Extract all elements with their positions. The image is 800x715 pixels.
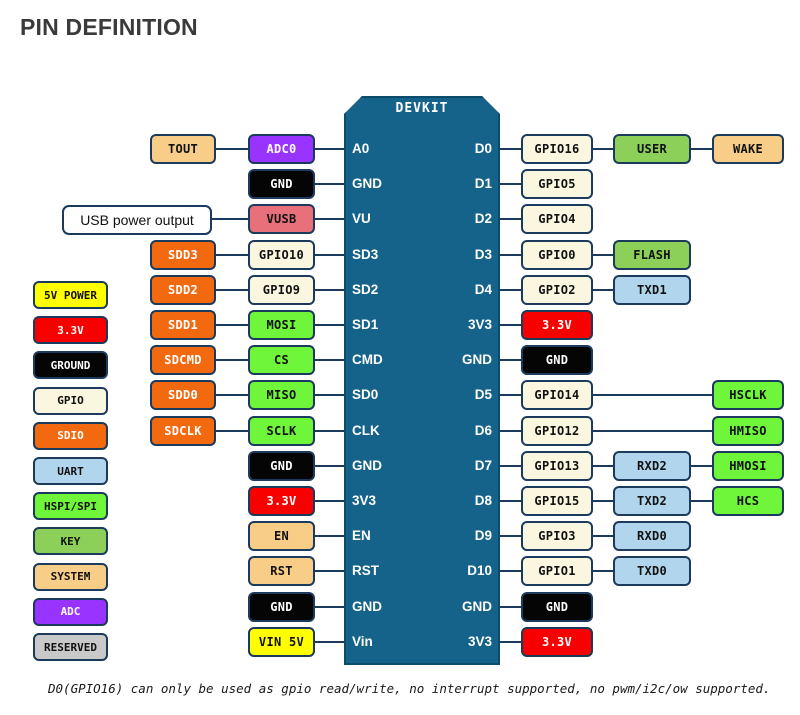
left-pin-box-6-col2[interactable]: CS [248,345,315,375]
left-pin-box-4-col1[interactable]: SDD2 [150,275,216,305]
board-pin-left-13: GND [352,592,414,622]
right-pin-box-0-col2[interactable]: USER [613,134,691,164]
pin-box-label: SDCMD [164,353,202,367]
pin-box-label: HCS [737,494,760,508]
wire-right-mid-3 [593,254,613,256]
pin-box-label: FLASH [633,248,671,262]
pin-box-label: 3.3V [542,635,572,649]
legend-item-label: GROUND [51,359,91,372]
right-pin-box-12-col1[interactable]: GPIO1 [521,556,593,586]
legend-item-uart[interactable]: UART [33,457,108,485]
left-pin-box-11-col2[interactable]: EN [248,521,315,551]
legend-item-system[interactable]: SYSTEM [33,563,108,591]
wire-right-long-8 [593,430,712,432]
board-pin-left-11: EN [352,521,414,551]
right-pin-box-7-col1[interactable]: GPIO14 [521,380,593,410]
right-pin-box-10-col1[interactable]: GPIO15 [521,486,593,516]
right-pin-box-14-col1[interactable]: 3.3V [521,627,593,657]
right-pin-box-10-col2[interactable]: TXD2 [613,486,691,516]
wire-left-outer-6 [216,359,248,361]
left-pin-box-5-col2[interactable]: MOSI [248,310,315,340]
board-pin-right-13: GND [428,592,492,622]
pin-box-label: ADC0 [266,142,296,156]
pin-box-label: GND [270,459,293,473]
wire-right-inner-0 [500,148,521,150]
wire-left-outer-4 [216,289,248,291]
legend-item-label: 5V POWER [44,289,97,302]
pin-box-label: GPIO1 [538,564,576,578]
right-pin-box-12-col2[interactable]: TXD0 [613,556,691,586]
wire-right-mid-11 [593,535,613,537]
pin-box-label: GND [546,353,569,367]
pin-box-label: SDD2 [168,283,198,297]
wire-left-inner-14 [315,641,344,643]
board-pin-left-9: GND [352,451,414,481]
pin-box-label: RXD0 [637,529,667,543]
board-pin-left-6: CMD [352,345,414,375]
wire-right-inner-5 [500,324,521,326]
right-pin-box-5-col1[interactable]: 3.3V [521,310,593,340]
wire-right-inner-4 [500,289,521,291]
right-pin-box-8-col1[interactable]: GPIO12 [521,416,593,446]
wire-right-mid-10 [593,500,613,502]
pin-box-label: VUSB [266,212,296,226]
wire-right-mid-12 [593,570,613,572]
pin-box-label: HMOSI [729,459,767,473]
pin-box-label: TXD1 [637,283,667,297]
legend-item-label: GPIO [57,394,84,407]
pin-box-label: GPIO13 [534,459,579,473]
wire-left-inner-3 [315,254,344,256]
wire-left-inner-9 [315,465,344,467]
legend-item-label: ADC [61,605,81,618]
board-pin-right-8: D6 [428,416,492,446]
legend-item-sdio[interactable]: SDIO [33,422,108,450]
wire-left-inner-13 [315,606,344,608]
pin-box-label: GPIO4 [538,212,576,226]
right-pin-box-9-col3[interactable]: HMOSI [712,451,784,481]
left-pin-box-1-col2[interactable]: GND [248,169,315,199]
left-pin-box-7-col2[interactable]: MISO [248,380,315,410]
board-pin-right-1: D1 [428,169,492,199]
legend-item-hspi-spi[interactable]: HSPI/SPI [33,492,108,520]
pin-box-label: SDD1 [168,318,198,332]
board-pin-right-12: D10 [428,556,492,586]
pin-box-label: EN [274,529,289,543]
board-pin-right-5: 3V3 [428,310,492,340]
wire-left-outer-7 [216,394,248,396]
pin-box-label: GPIO0 [538,248,576,262]
wire-left-inner-6 [315,359,344,361]
board-pin-left-14: Vin [352,627,414,657]
pin-box-label: HMISO [729,424,767,438]
left-pin-box-3-col1[interactable]: SDD3 [150,240,216,270]
page-title: PIN DEFINITION [20,14,198,41]
pin-box-label: TOUT [168,142,198,156]
wire-left-inner-2 [315,218,344,220]
board-pin-right-2: D2 [428,204,492,234]
wire-right-inner-6 [500,359,521,361]
pin-box-label: MOSI [266,318,296,332]
board-pin-left-1: GND [352,169,414,199]
right-pin-box-4-col2[interactable]: TXD1 [613,275,691,305]
pin-box-label: MISO [266,388,296,402]
left-pin-box-9-col2[interactable]: GND [248,451,315,481]
wire-left-inner-0 [315,148,344,150]
right-pin-box-10-col3[interactable]: HCS [712,486,784,516]
wire-usb-callout [212,218,248,220]
right-pin-box-4-col1[interactable]: GPIO2 [521,275,593,305]
legend-item-gpio[interactable]: GPIO [33,387,108,415]
board-pin-right-6: GND [428,345,492,375]
left-pin-box-13-col2[interactable]: GND [248,592,315,622]
right-pin-box-3-col1[interactable]: GPIO0 [521,240,593,270]
pin-box-label: GND [270,177,293,191]
wire-right-far-10 [691,500,712,502]
wire-right-mid-0 [593,148,613,150]
board-pin-right-7: D5 [428,380,492,410]
wire-left-inner-11 [315,535,344,537]
usb-power-output-callout: USB power output [62,205,212,235]
board-pin-right-11: D9 [428,521,492,551]
right-pin-box-9-col2[interactable]: RXD2 [613,451,691,481]
legend-item-ground[interactable]: GROUND [33,351,108,379]
legend-item-3-3v[interactable]: 3.3V [33,316,108,344]
left-pin-box-4-col2[interactable]: GPIO9 [248,275,315,305]
wire-left-inner-4 [315,289,344,291]
pin-box-label: VIN 5V [259,635,304,649]
right-pin-box-9-col1[interactable]: GPIO13 [521,451,593,481]
wire-right-inner-14 [500,641,521,643]
board-pin-left-3: SD3 [352,240,414,270]
right-pin-box-0-col3[interactable]: WAKE [712,134,784,164]
left-pin-box-12-col2[interactable]: RST [248,556,315,586]
legend-item-reserved[interactable]: RESERVED [33,633,108,661]
pin-box-label: GPIO14 [534,388,579,402]
left-pin-box-14-col2[interactable]: VIN 5V [248,627,315,657]
left-pin-box-5-col1[interactable]: SDD1 [150,310,216,340]
pin-box-label: GPIO9 [263,283,301,297]
legend-item-key[interactable]: KEY [33,527,108,555]
pin-box-label: GPIO3 [538,529,576,543]
wire-right-mid-9 [593,465,613,467]
right-pin-box-3-col2[interactable]: FLASH [613,240,691,270]
board-pin-right-0: D0 [428,134,492,164]
pin-box-label: GPIO15 [534,494,579,508]
board-pin-left-0: A0 [352,134,414,164]
right-pin-box-11-col2[interactable]: RXD0 [613,521,691,551]
right-pin-box-6-col1[interactable]: GND [521,345,593,375]
board-pin-left-4: SD2 [352,275,414,305]
legend-item-label: RESERVED [44,641,97,654]
wire-right-long-7 [593,394,712,396]
board-pin-left-8: CLK [352,416,414,446]
legend-item-label: KEY [61,535,81,548]
wire-right-far-0 [691,148,712,150]
left-pin-box-0-col2[interactable]: ADC0 [248,134,315,164]
pin-box-label: 3.3V [542,318,572,332]
legend-item-5v-power[interactable]: 5V POWER [33,281,108,309]
wire-left-inner-5 [315,324,344,326]
wire-left-inner-8 [315,430,344,432]
pin-box-label: WAKE [733,142,763,156]
pin-box-label: GPIO12 [534,424,579,438]
board-pin-left-2: VU [352,204,414,234]
board-pin-right-3: D3 [428,240,492,270]
legend-item-adc[interactable]: ADC [33,598,108,626]
legend-item-label: UART [57,465,84,478]
wire-right-inner-12 [500,570,521,572]
left-pin-box-7-col1[interactable]: SDD0 [150,380,216,410]
footnote-text: D0(GPIO16) can only be used as gpio read… [48,681,770,696]
right-pin-box-7-col3[interactable]: HSCLK [712,380,784,410]
legend-item-label: HSPI/SPI [44,500,97,513]
left-pin-box-8-col2[interactable]: SCLK [248,416,315,446]
left-pin-box-2-col2[interactable]: VUSB [248,204,315,234]
wire-right-inner-13 [500,606,521,608]
right-pin-box-8-col3[interactable]: HMISO [712,416,784,446]
wire-left-outer-5 [216,324,248,326]
legend-item-label: SYSTEM [51,570,91,583]
board-pin-left-10: 3V3 [352,486,414,516]
board-pin-right-4: D4 [428,275,492,305]
board-pin-left-7: SD0 [352,380,414,410]
wire-right-inner-1 [500,183,521,185]
pin-box-label: TXD0 [637,564,667,578]
legend-item-label: SDIO [57,429,84,442]
pin-box-label: GPIO5 [538,177,576,191]
right-pin-box-0-col1[interactable]: GPIO16 [521,134,593,164]
wire-left-outer-3 [216,254,248,256]
wire-right-inner-2 [500,218,521,220]
right-pin-box-1-col1[interactable]: GPIO5 [521,169,593,199]
wire-right-inner-10 [500,500,521,502]
left-pin-box-10-col2[interactable]: 3.3V [248,486,315,516]
wire-right-inner-9 [500,465,521,467]
wire-left-inner-7 [315,394,344,396]
wire-left-inner-1 [315,183,344,185]
pin-box-label: RST [270,564,293,578]
wire-right-inner-7 [500,394,521,396]
wire-left-outer-8 [216,430,248,432]
pin-box-label: USER [637,142,667,156]
pin-box-label: GPIO16 [534,142,579,156]
pin-box-label: HSCLK [729,388,767,402]
right-pin-box-2-col1[interactable]: GPIO4 [521,204,593,234]
left-pin-box-3-col2[interactable]: GPIO10 [248,240,315,270]
board-name-label: DEVKIT [344,101,500,116]
wire-left-inner-10 [315,500,344,502]
board-pin-left-12: RST [352,556,414,586]
left-pin-box-6-col1[interactable]: SDCMD [150,345,216,375]
left-pin-box-0-col1[interactable]: TOUT [150,134,216,164]
legend-item-label: 3.3V [57,324,84,337]
wire-right-inner-11 [500,535,521,537]
wire-left-outer-0 [216,148,248,150]
wire-right-far-9 [691,465,712,467]
board-pin-right-9: D7 [428,451,492,481]
pin-box-label: GPIO10 [259,248,304,262]
pin-box-label: SCLK [266,424,296,438]
pin-box-label: SDD3 [168,248,198,262]
pin-box-label: RXD2 [637,459,667,473]
pin-box-label: GND [546,600,569,614]
pin-box-label: CS [274,353,289,367]
right-pin-box-11-col1[interactable]: GPIO3 [521,521,593,551]
pin-box-label: 3.3V [266,494,296,508]
pin-box-label: SDD0 [168,388,198,402]
left-pin-box-8-col1[interactable]: SDCLK [150,416,216,446]
pin-box-label: SDCLK [164,424,202,438]
wire-right-mid-4 [593,289,613,291]
board-pin-left-5: SD1 [352,310,414,340]
board-pin-right-14: 3V3 [428,627,492,657]
board-pin-right-10: D8 [428,486,492,516]
wire-right-inner-8 [500,430,521,432]
wire-right-inner-3 [500,254,521,256]
wire-left-inner-12 [315,570,344,572]
pin-box-label: GND [270,600,293,614]
pin-box-label: GPIO2 [538,283,576,297]
pin-box-label: TXD2 [637,494,667,508]
right-pin-box-13-col1[interactable]: GND [521,592,593,622]
